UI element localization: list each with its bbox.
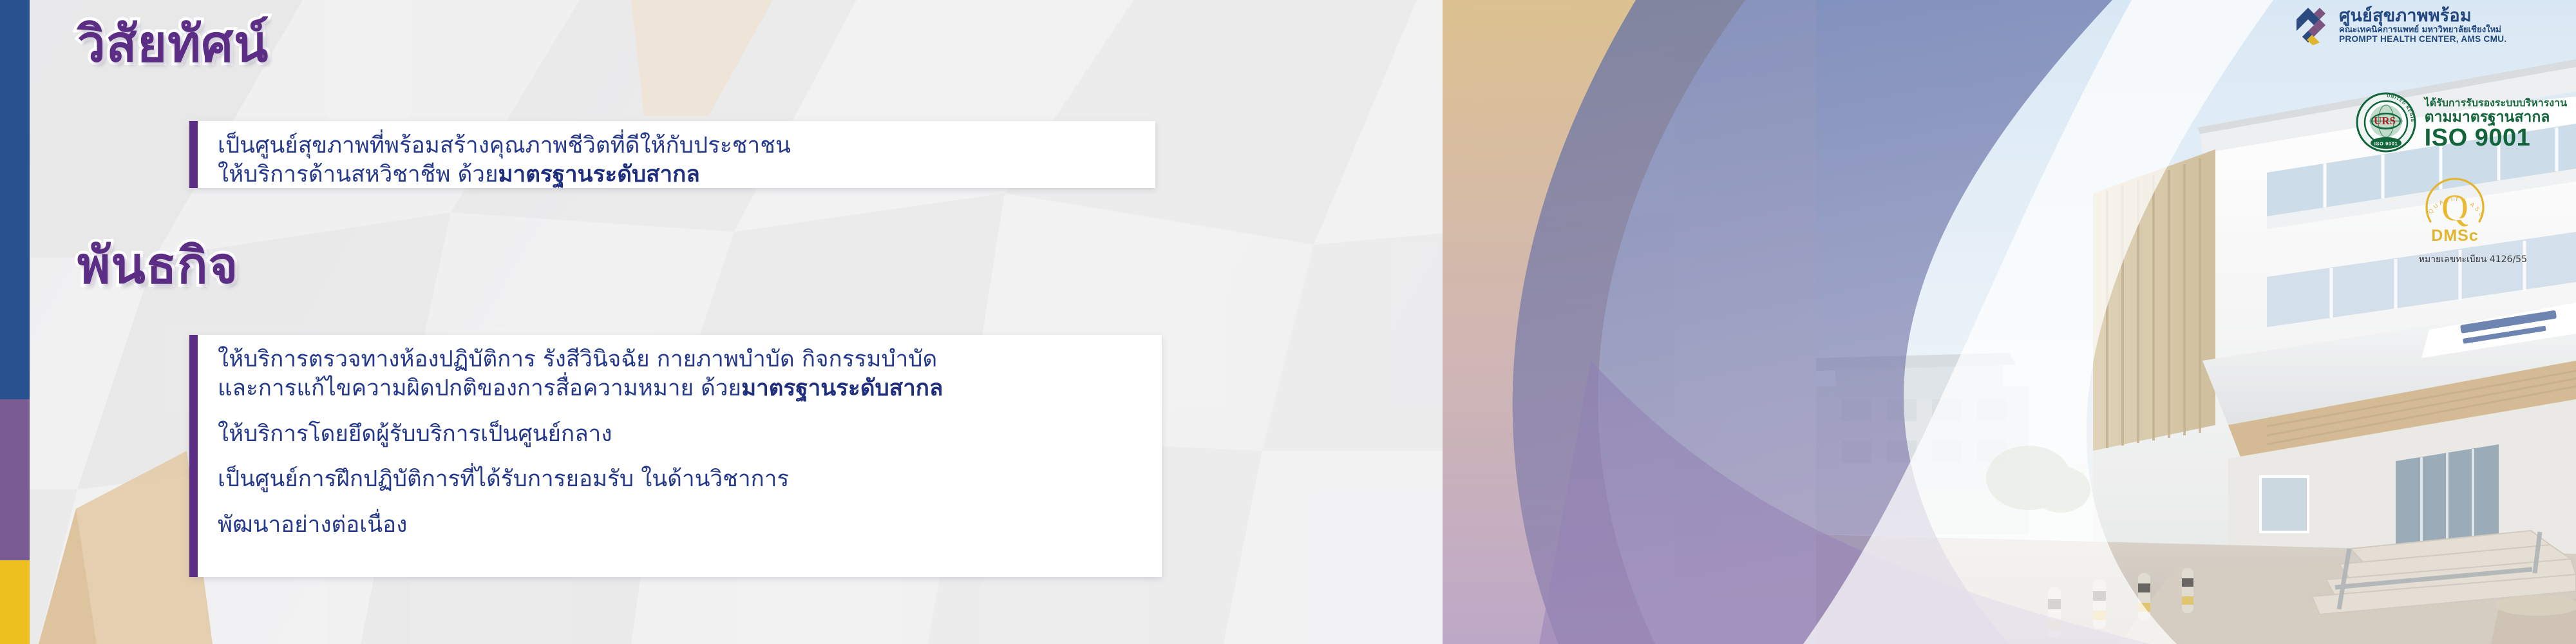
vision-card-accent-bar: [189, 121, 198, 188]
svg-text:URS: URS: [2374, 115, 2396, 127]
registration-number: หมายเลขทะเบียน 4126/55: [2419, 252, 2527, 267]
mission-heading: พันธกิจ: [77, 225, 238, 305]
iso-line-1: ได้รับการรับรองระบบบริหารงาน: [2425, 98, 2567, 109]
svg-text:DMSc: DMSc: [2431, 227, 2478, 245]
vision-heading: วิสัยทัศน์: [77, 4, 269, 84]
svg-text:Q: Q: [2441, 187, 2468, 229]
iso-standard-number: ISO 9001: [2425, 126, 2567, 150]
logo-subtitle-en: PROMPT HEALTH CENTER, AMS CMU.: [2339, 35, 2506, 44]
mission-line-2: และการแก้ไขความผิดปกติของการสื่อความหมาย…: [218, 374, 1140, 403]
dmsc-quality-assurance-seal-icon: QUALITY ASSURANCE Q DMSc: [2416, 169, 2494, 246]
left-color-bar: [0, 0, 30, 644]
mission-card: ให้บริการตรวจทางห้องปฏิบัติการ รังสีวินิ…: [189, 335, 1162, 577]
left-bar-gold-segment: [0, 560, 30, 644]
logo-title: ศูนย์สุขภาพพร้อม: [2339, 7, 2506, 24]
iso-line-2: ตามมาตรฐานสากล: [2425, 109, 2567, 125]
prompt-health-center-logo: ศูนย์สุขภาพพร้อม คณะเทคนิคการแพทย์ มหาวิ…: [2293, 5, 2570, 45]
vision-line-1: เป็นศูนย์สุขภาพที่พร้อมสร้างคุณภาพชีวิตท…: [218, 131, 1133, 160]
left-bar-blue-segment: [0, 0, 30, 399]
banner-stage: วิสัยทัศน์ เป็นศูนย์สุขภาพที่พร้อมสร้างค…: [0, 0, 2576, 644]
mission-line-5: พัฒนาอย่างต่อเนื่อง: [218, 511, 1140, 540]
vision-line-2: ให้บริการด้านสหวิชาชีพ ด้วยมาตรฐานระดับส…: [218, 160, 1133, 189]
mission-line-1: ให้บริการตรวจทางห้องปฏิบัติการ รังสีวินิ…: [218, 345, 1140, 374]
prompt-health-center-diamond-icon: [2293, 5, 2333, 45]
vision-card: เป็นศูนย์สุขภาพที่พร้อมสร้างคุณภาพชีวิตท…: [189, 121, 1155, 188]
svg-text:ISO 9001: ISO 9001: [2374, 141, 2398, 147]
left-bar-purple-segment: [0, 399, 30, 560]
mission-card-accent-bar: [189, 335, 198, 577]
mission-line-4: เป็นศูนย์การฝึกปฏิบัติการที่ได้รับการยอม…: [218, 465, 1140, 494]
mission-line-3: ให้บริการโดยยึดผู้รับบริการเป็นศูนย์กลาง: [218, 420, 1140, 449]
urs-iso-9001-seal-icon: UNITED REGISTRAR OF SYSTEMS ISO 9001 ISO…: [2355, 91, 2417, 156]
logo-subtitle-th: คณะเทคนิคการแพทย์ มหาวิทยาลัยเชียงใหม่: [2339, 26, 2506, 34]
iso-9001-certification: UNITED REGISTRAR OF SYSTEMS ISO 9001 ISO…: [2355, 91, 2567, 156]
